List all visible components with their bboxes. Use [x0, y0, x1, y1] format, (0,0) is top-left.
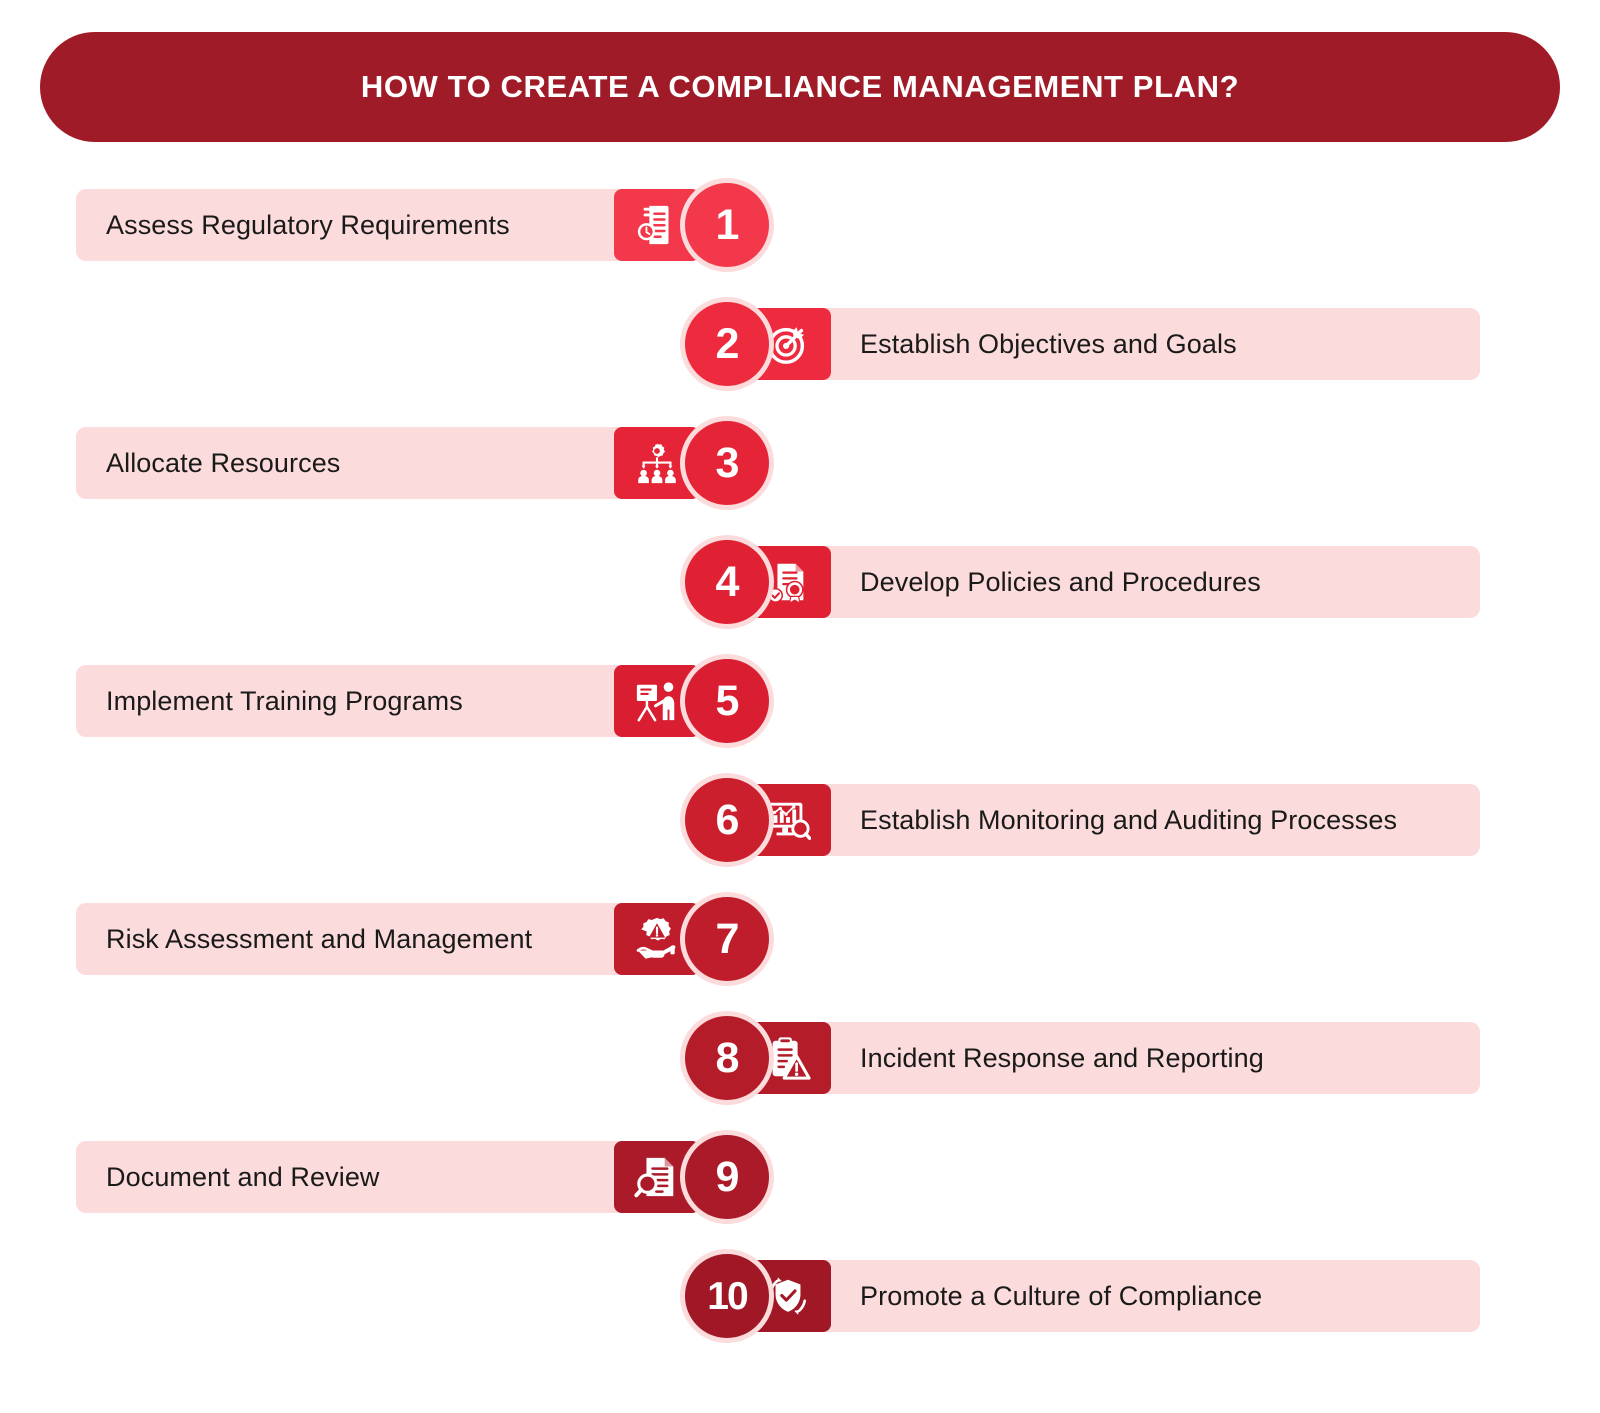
step-text-bar: Incident Response and Reporting: [745, 1022, 1480, 1094]
step-text-bar: Allocate Resources: [76, 427, 700, 499]
step-row-4[interactable]: Develop Policies and Procedures 4: [0, 532, 1600, 632]
step-label: Allocate Resources: [106, 450, 340, 477]
step-text-bar: Establish Monitoring and Auditing Proces…: [745, 784, 1480, 856]
step-number: 5: [716, 680, 739, 723]
step-row-3[interactable]: Allocate Resources 3: [0, 413, 1600, 513]
step-number-badge: 7: [680, 892, 774, 986]
step-number: 8: [716, 1037, 739, 1080]
step-row-10[interactable]: Promote a Culture of Compliance 10: [0, 1246, 1600, 1346]
step-text-bar: Assess Regulatory Requirements: [76, 189, 700, 261]
step-number-badge: 6: [680, 773, 774, 867]
step-number-badge: 2: [680, 297, 774, 391]
step-label: Establish Monitoring and Auditing Proces…: [860, 807, 1397, 834]
step-label: Promote a Culture of Compliance: [860, 1283, 1262, 1310]
document-clock-icon: [634, 202, 680, 248]
step-number-badge: 4: [680, 535, 774, 629]
step-number: 1: [716, 204, 739, 247]
page-title: HOW TO CREATE A COMPLIANCE MANAGEMENT PL…: [361, 69, 1239, 105]
step-row-1[interactable]: Assess Regulatory Requirements 1: [0, 175, 1600, 275]
step-number-badge: 1: [680, 178, 774, 272]
header-banner: HOW TO CREATE A COMPLIANCE MANAGEMENT PL…: [40, 32, 1560, 142]
step-text-bar: Promote a Culture of Compliance: [745, 1260, 1480, 1332]
step-number: 6: [716, 799, 739, 842]
step-label: Incident Response and Reporting: [860, 1045, 1264, 1072]
step-number-badge: 9: [680, 1130, 774, 1224]
step-text-bar: Document and Review: [76, 1141, 700, 1213]
org-chart-gear-people-icon: [634, 440, 680, 486]
step-row-2[interactable]: Establish Objectives and Goals 2: [0, 294, 1600, 394]
step-label: Implement Training Programs: [106, 688, 463, 715]
step-number: 3: [716, 442, 739, 485]
step-row-7[interactable]: Risk Assessment and Management 7: [0, 889, 1600, 989]
step-text-bar: Implement Training Programs: [76, 665, 700, 737]
step-label: Establish Objectives and Goals: [860, 331, 1237, 358]
step-text-bar: Develop Policies and Procedures: [745, 546, 1480, 618]
step-number-badge: 3: [680, 416, 774, 510]
step-label: Assess Regulatory Requirements: [106, 212, 510, 239]
step-number-badge: 10: [680, 1249, 774, 1343]
step-text-bar: Risk Assessment and Management: [76, 903, 700, 975]
presenter-easel-icon: [634, 678, 680, 724]
step-row-9[interactable]: Document and Review 9: [0, 1127, 1600, 1227]
step-number: 4: [716, 561, 739, 604]
step-number-badge: 5: [680, 654, 774, 748]
step-row-8[interactable]: Incident Response and Reporting 8: [0, 1008, 1600, 1108]
step-number: 9: [716, 1156, 739, 1199]
step-row-6[interactable]: Establish Monitoring and Auditing Proces…: [0, 770, 1600, 870]
step-label: Develop Policies and Procedures: [860, 569, 1261, 596]
gear-warning-hand-icon: [634, 916, 680, 962]
step-text-bar: Establish Objectives and Goals: [745, 308, 1480, 380]
step-label: Document and Review: [106, 1164, 380, 1191]
step-number-badge: 8: [680, 1011, 774, 1105]
step-label: Risk Assessment and Management: [106, 926, 532, 953]
step-number: 10: [707, 1277, 746, 1316]
step-number: 2: [716, 323, 739, 366]
step-number: 7: [716, 918, 739, 961]
document-magnifier-icon: [634, 1154, 680, 1200]
step-row-5[interactable]: Implement Training Programs 5: [0, 651, 1600, 751]
steps-list: Assess Regulatory Requirements 1Establis…: [0, 175, 1600, 1375]
